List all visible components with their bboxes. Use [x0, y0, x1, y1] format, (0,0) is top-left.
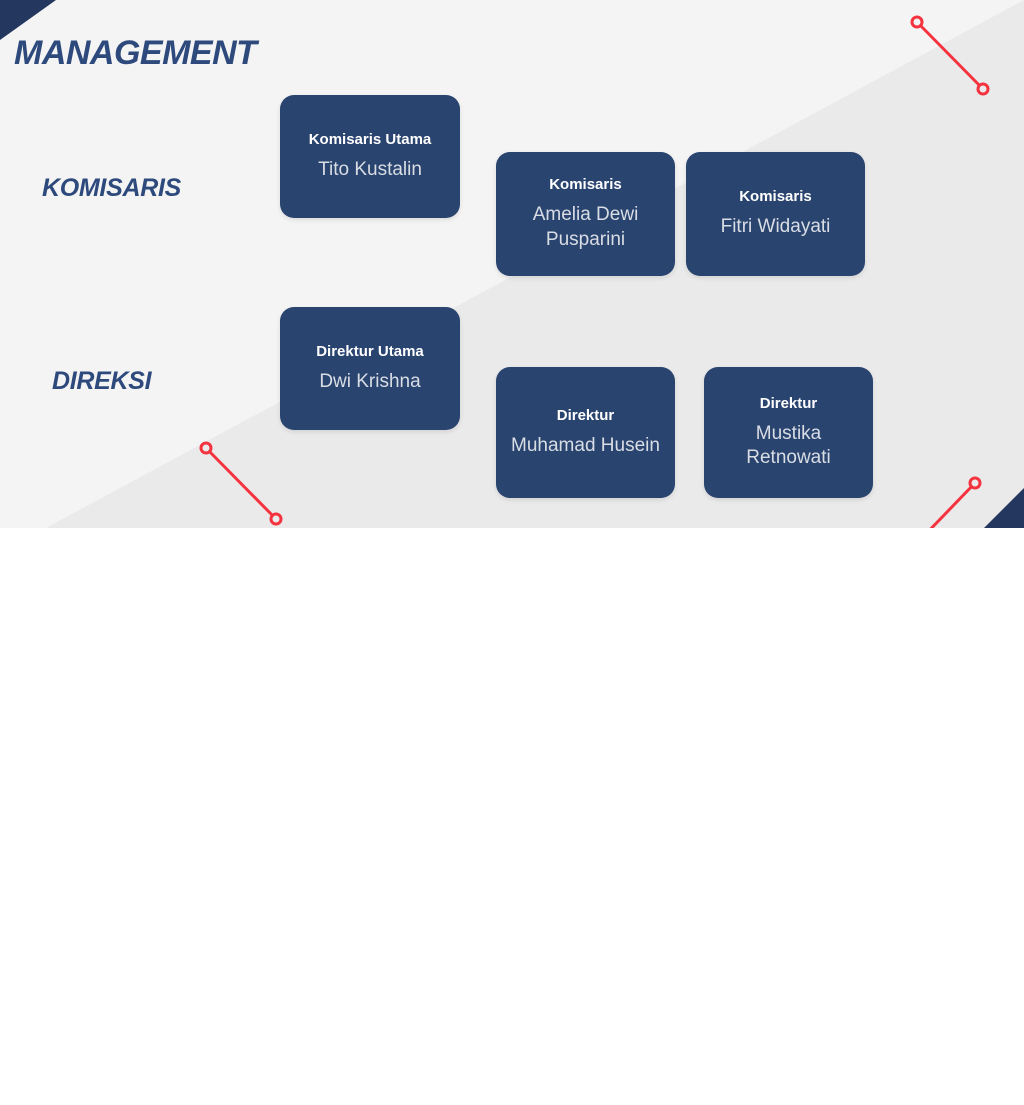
card-direktur-mustika-retnowati[interactable]: Direktur Mustika Retnowati: [704, 367, 873, 498]
card-title: Komisaris: [739, 188, 812, 206]
card-komisaris-utama[interactable]: Komisaris Utama Tito Kustalin: [280, 95, 460, 218]
card-name: Dwi Krishna: [319, 370, 420, 394]
page-whitespace: [0, 528, 1024, 1105]
section-label-direksi: DIREKSI: [52, 367, 151, 396]
accent-line-top-right-icon: [905, 10, 995, 100]
card-title: Direktur: [760, 395, 818, 413]
accent-line-mid-left-icon: [195, 437, 290, 528]
card-title: Komisaris: [549, 176, 622, 194]
card-komisaris-fitri-widayati[interactable]: Komisaris Fitri Widayati: [686, 152, 865, 276]
card-title: Komisaris Utama: [309, 131, 432, 149]
card-direktur-muhamad-husein[interactable]: Direktur Muhamad Husein: [496, 367, 675, 498]
card-direktur-utama[interactable]: Direktur Utama Dwi Krishna: [280, 307, 460, 430]
card-name: Fitri Widayati: [721, 215, 831, 239]
card-name: Tito Kustalin: [318, 158, 422, 182]
card-name: Mustika Retnowati: [714, 422, 863, 471]
card-name: Amelia Dewi Pusparini: [506, 203, 665, 252]
accent-line-bottom-right-icon: [918, 472, 998, 528]
card-komisaris-amelia-dewi-pusparini[interactable]: Komisaris Amelia Dewi Pusparini: [496, 152, 675, 276]
card-title: Direktur: [557, 407, 615, 425]
org-chart-graphic: MANAGEMENT KOMISARIS DIREKSI Komisaris U…: [0, 0, 1024, 528]
card-title: Direktur Utama: [316, 343, 424, 361]
section-label-komisaris: KOMISARIS: [42, 174, 181, 203]
card-name: Muhamad Husein: [511, 434, 660, 458]
page-title: MANAGEMENT: [14, 34, 256, 73]
